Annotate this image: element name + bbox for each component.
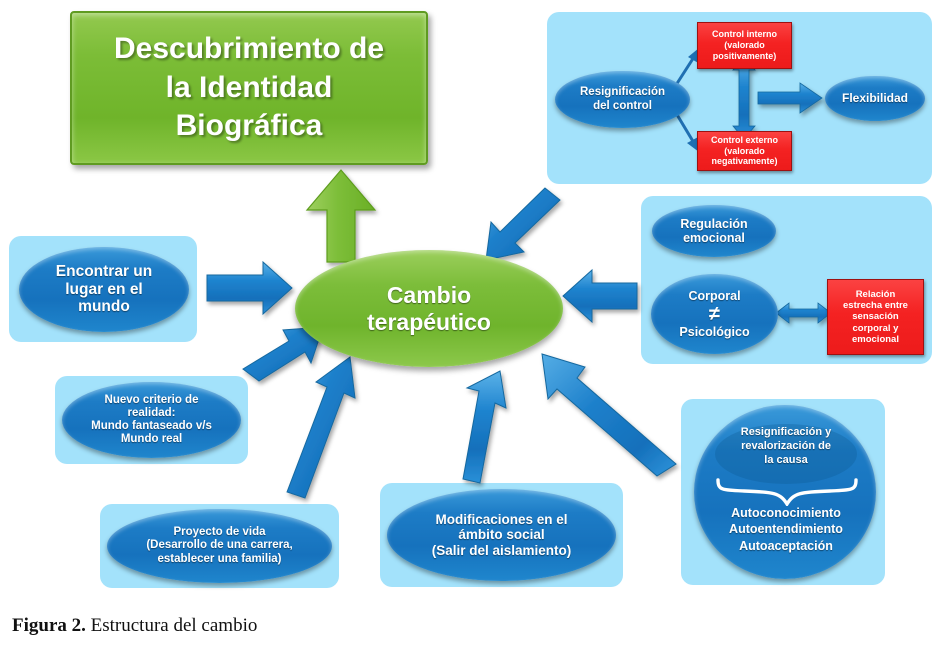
node-relacion-estrecha[interactable]: Relación estrecha entre sensación corpor… [827,279,924,355]
node-autoconocimiento-label: Autoconocimiento Autoentendimiento Autoa… [700,505,872,554]
node-control-interno-label: Control interno (valorado positivamente) [709,28,780,62]
node-relacion-estrecha-label: Relación estrecha entre sensación corpor… [840,288,911,347]
arrow-world-place-to-center-icon [207,262,292,314]
node-world-place-label: Encontrar un lugar en el mundo [48,261,160,318]
node-corporal-psicologico[interactable]: Corporal ≠ Psicológico [651,274,778,354]
node-regulacion-emocional[interactable]: Regulación emocional [652,205,776,257]
curly-brace-icon [714,478,860,506]
arrow-center-to-title-icon [307,170,375,262]
node-resignificacion-causa-label: Resignificación y revalorización de la c… [712,426,860,467]
node-flexibilidad[interactable]: Flexibilidad [825,76,925,121]
node-social-scope-label: Modificaciones en el ámbito social (Sali… [424,510,580,561]
node-control-interno[interactable]: Control interno (valorado positivamente) [697,22,792,69]
arrow-social-scope-to-center-icon [463,371,506,483]
node-corporal-label: Corporal [688,289,740,303]
node-social-scope[interactable]: Modificaciones en el ámbito social (Sali… [387,489,616,581]
node-resignificacion-del-control-label: Resignificación del control [572,84,673,114]
arrow-emotion-body-to-center-icon [563,270,637,322]
center-node[interactable]: Cambio terapéutico [295,250,563,367]
figure-caption: Figura 2. Estructura del cambio [12,615,612,637]
not-equal-icon: ≠ [709,304,720,324]
arrow-self-cluster-to-center-icon [542,354,676,476]
figure-canvas: Descubrimiento de la Identidad Biográfic… [0,0,937,648]
arrow-life-project-to-center-icon [287,357,355,498]
node-life-project-label: Proyecto de vida (Desarrollo de una carr… [138,524,300,568]
figure-caption-label: Figura 2. [12,615,86,636]
center-node-label: Cambio terapéutico [359,280,499,337]
node-world-place[interactable]: Encontrar un lugar en el mundo [19,247,189,332]
arrow-control-cluster-to-center-icon [486,188,560,260]
node-reality-criterion[interactable]: Nuevo criterio de realidad: Mundo fantas… [62,382,241,458]
node-reality-criterion-label: Nuevo criterio de realidad: Mundo fantas… [83,392,220,449]
title-banner-label: Descubrimiento de la Identidad Biográfic… [114,30,384,145]
node-regulacion-emocional-label: Regulación emocional [672,215,755,248]
node-control-externo-label: Control externo (valorado negativamente) [708,134,781,168]
node-flexibilidad-label: Flexibilidad [834,90,916,108]
node-control-externo[interactable]: Control externo (valorado negativamente) [697,131,792,171]
node-life-project[interactable]: Proyecto de vida (Desarrollo de una carr… [107,509,332,583]
title-banner: Descubrimiento de la Identidad Biográfic… [70,11,428,165]
figure-caption-text: Estructura del cambio [86,615,257,636]
node-resignificacion-del-control[interactable]: Resignificación del control [555,71,690,128]
node-psicologico-label: Psicológico [679,325,749,339]
